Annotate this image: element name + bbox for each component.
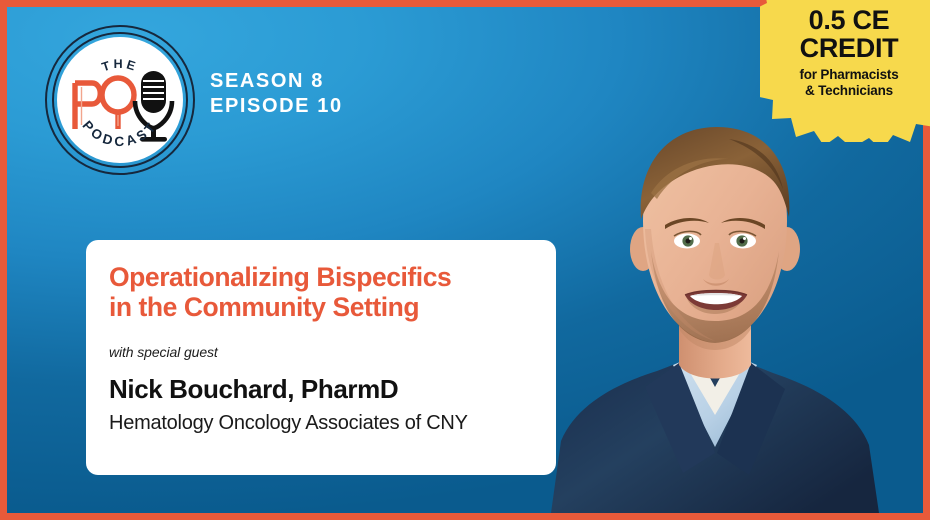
season-label: SEASON 8 xyxy=(210,69,343,94)
logo-artwork: THE xyxy=(45,25,195,175)
episode-info-card: Operationalizing Bispecifics in the Comm… xyxy=(86,240,556,475)
pq-podcast-logo: THE xyxy=(45,25,195,175)
with-special-guest-label: with special guest xyxy=(109,344,546,360)
episode-title: Operationalizing Bispecifics in the Comm… xyxy=(109,262,529,322)
ce-credit-word: CREDIT xyxy=(760,34,930,62)
episode-title-line2: in the Community Setting xyxy=(109,292,529,322)
card-content: Operationalizing Bispecifics in the Comm… xyxy=(109,262,546,435)
ce-credit-amount: 0.5 CE xyxy=(760,6,930,34)
episode-label: EPISODE 10 xyxy=(210,94,343,119)
ce-audience-line2: & Technicians xyxy=(760,83,930,99)
episode-title-line1: Operationalizing Bispecifics xyxy=(109,262,529,292)
season-episode-block: SEASON 8 EPISODE 10 xyxy=(210,69,343,119)
guest-organization: Hematology Oncology Associates of CNY xyxy=(109,412,546,435)
ce-audience-line1: for Pharmacists xyxy=(760,67,930,83)
svg-text:THE: THE xyxy=(100,57,140,74)
guest-name: Nick Bouchard, PharmD xyxy=(109,374,546,405)
podcast-episode-graphic: Operationalizing Bispecifics in the Comm… xyxy=(0,0,930,520)
ce-badge-text: 0.5 CE CREDIT for Pharmacists & Technici… xyxy=(760,6,930,99)
ce-credit-badge: 0.5 CE CREDIT for Pharmacists & Technici… xyxy=(760,0,930,142)
